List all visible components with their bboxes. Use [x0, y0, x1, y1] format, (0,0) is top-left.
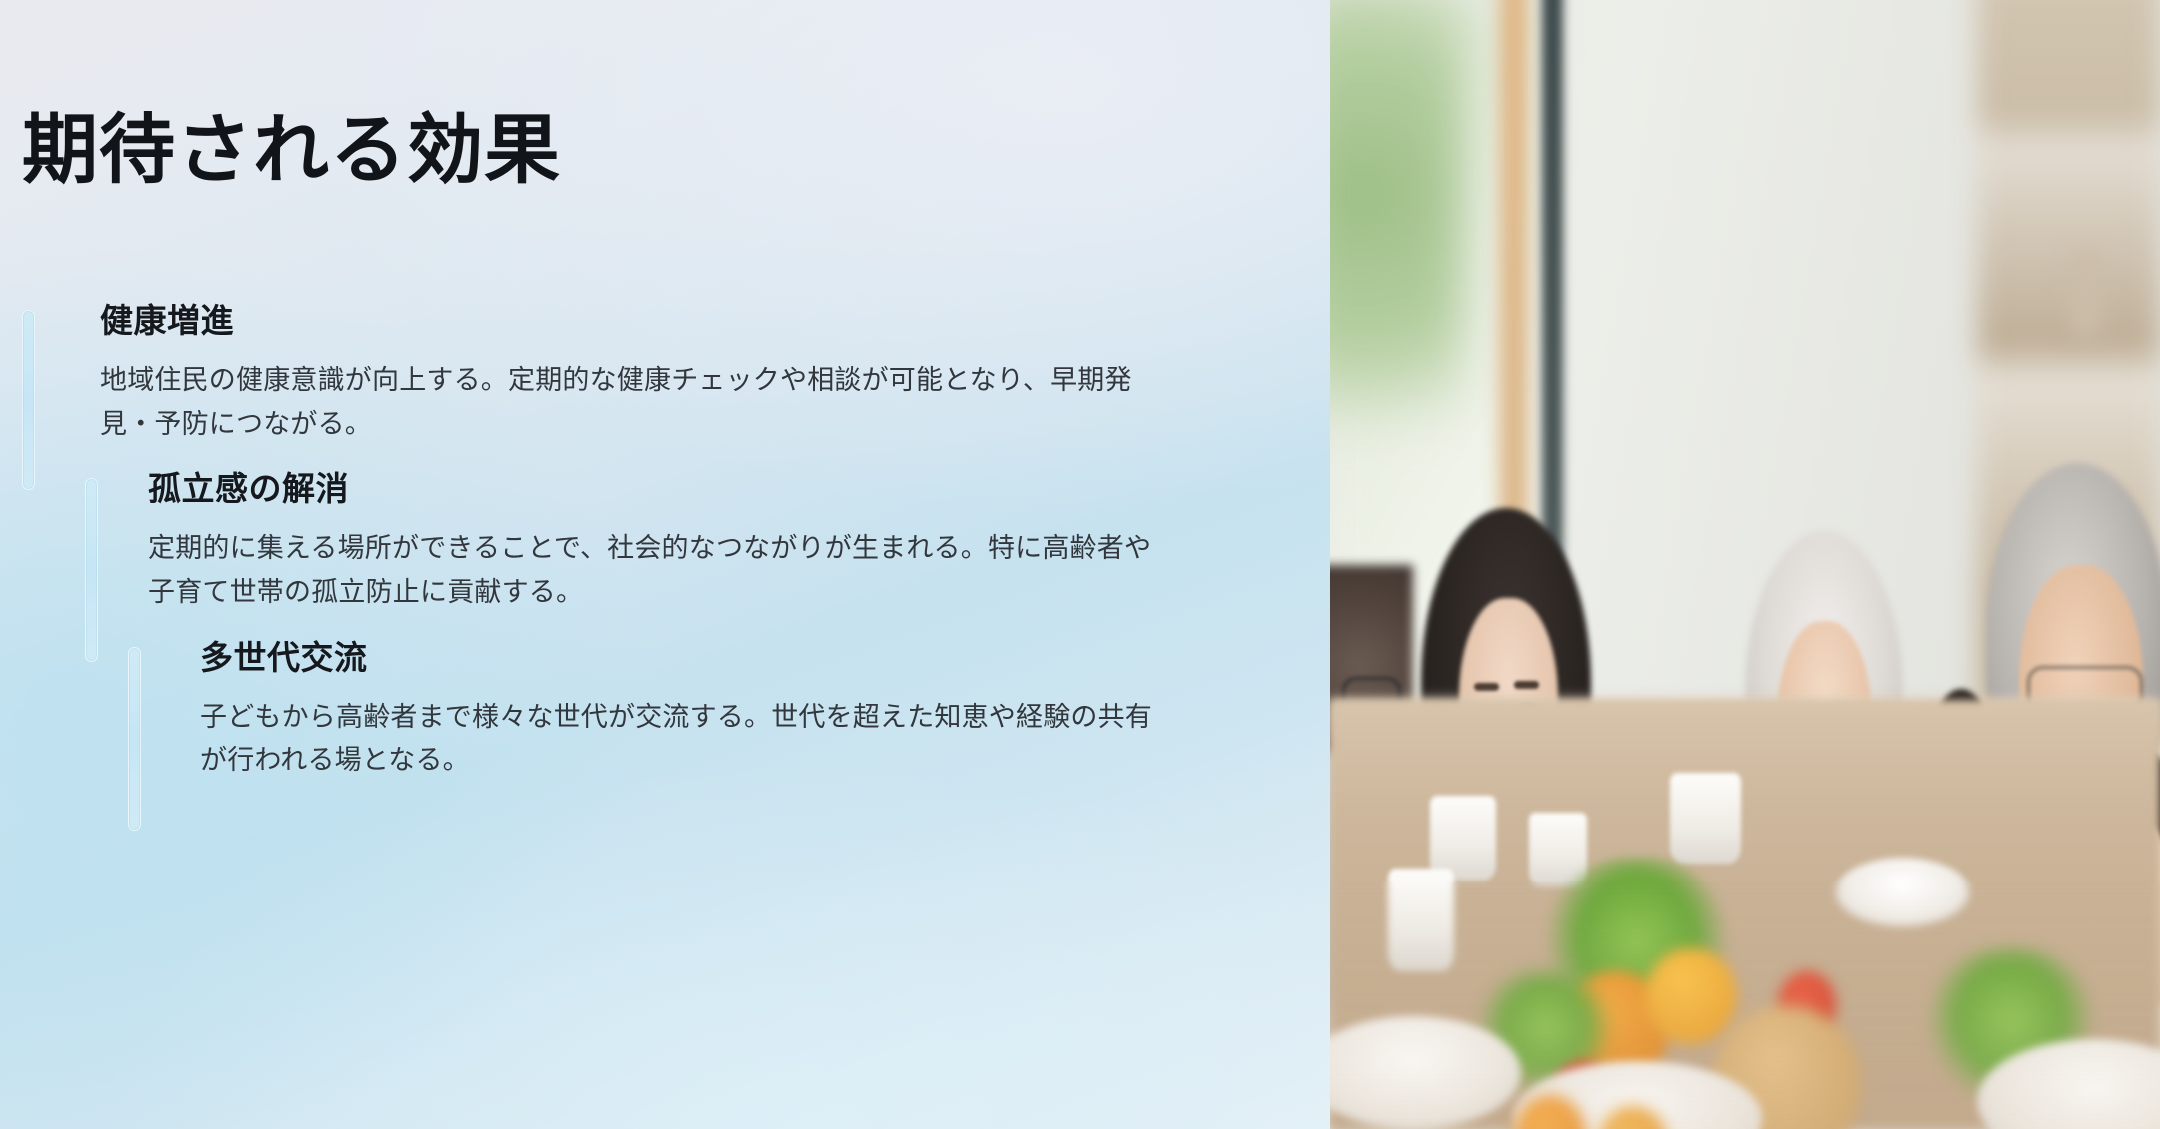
family-photo: [1330, 0, 2160, 1129]
effects-list: 健康増進 地域住民の健康意識が向上する。定期的な健康チェックや相談が可能となり、…: [0, 300, 1330, 805]
list-item-heading: 健康増進: [100, 300, 1330, 343]
accent-bar-icon: [22, 310, 35, 490]
list-item-heading: 多世代交流: [200, 637, 1330, 680]
photo-cup: [1670, 773, 1741, 863]
list-item-text: 多世代交流 子どもから高齢者まで様々な世代が交流する。世代を超えた知恵や経験の共…: [0, 637, 1330, 783]
list-item-body: 定期的に集える場所ができることで、社会的なつながりが生まれる。特に高齢者や子育て…: [148, 527, 1170, 614]
photo-shelf-object: [2069, 248, 2102, 338]
accent-bar-icon: [85, 478, 98, 662]
list-item: 孤立感の解消 定期的に集える場所ができることで、社会的なつながりが生まれる。特に…: [0, 468, 1330, 614]
slide-root: 期待される効果 健康増進 地域住民の健康意識が向上する。定期的な健康チェックや相…: [0, 0, 2160, 1129]
list-item-text: 健康増進 地域住民の健康意識が向上する。定期的な健康チェックや相談が可能となり、…: [0, 300, 1330, 446]
list-item-heading: 孤立感の解消: [148, 468, 1330, 511]
accent-bar-icon: [128, 647, 141, 831]
photo-foreground-blur: [1330, 881, 2160, 1129]
list-item-text: 孤立感の解消 定期的に集える場所ができることで、社会的なつながりが生まれる。特に…: [0, 468, 1330, 614]
photo-mother-brow: [1474, 683, 1499, 691]
list-item: 多世代交流 子どもから高齢者まで様々な世代が交流する。世代を超えた知恵や経験の共…: [0, 637, 1330, 783]
photo-mother-brow: [1514, 681, 1539, 689]
page-title: 期待される効果: [22, 108, 561, 193]
photo-foliage: [1330, 0, 1463, 519]
list-item-body: 子どもから高齢者まで様々な世代が交流する。世代を超えた知恵や経験の共有が行われる…: [200, 696, 1175, 783]
list-item: 健康増進 地域住民の健康意識が向上する。定期的な健康チェックや相談が可能となり、…: [0, 300, 1330, 446]
content-panel: 期待される効果 健康増進 地域住民の健康意識が向上する。定期的な健康チェックや相…: [0, 0, 1330, 1129]
list-item-body: 地域住民の健康意識が向上する。定期的な健康チェックや相談が可能となり、早期発見・…: [100, 359, 1170, 446]
photo-cup: [1430, 796, 1496, 881]
